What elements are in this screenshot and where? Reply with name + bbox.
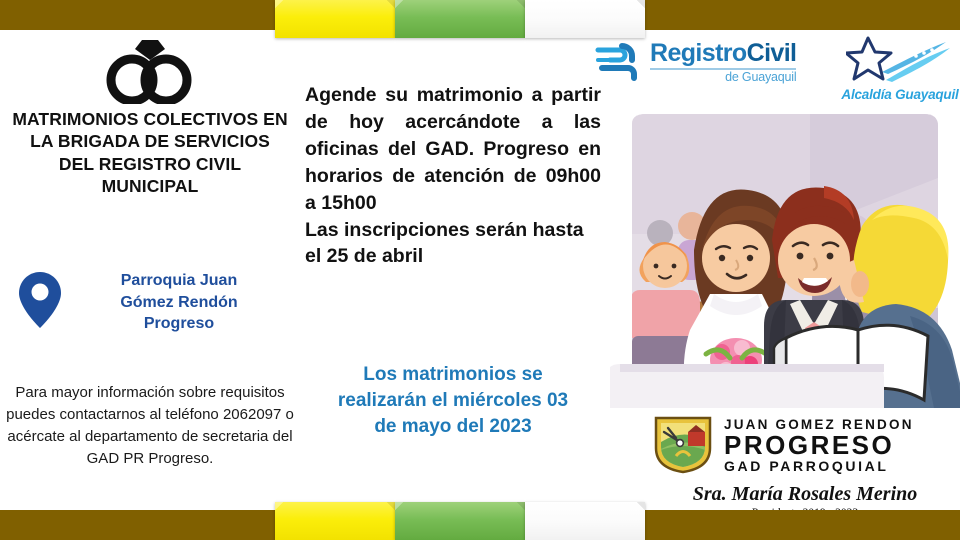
ceremony-date-line-3: de mayo del 2023: [305, 414, 601, 440]
contact-info-text: Para mayor información sobre requisitos …: [6, 382, 294, 470]
page-title: MATRIMONIOS COLECTIVOS EN LA BRIGADA DE …: [10, 108, 290, 198]
alcaldia-logo: Alcaldía Guayaquil: [840, 36, 960, 102]
parish-line-3: Progreso: [72, 313, 286, 334]
gad-parroquial-seal: JUAN GOMEZ RENDON PROGRESO GAD PARROQUIA…: [650, 412, 960, 512]
ceremony-date-text: Los matrimonios se realizarán el miércol…: [305, 362, 601, 441]
seal-line-2: PROGRESO: [724, 432, 914, 459]
registro-civil-title: RegistroCivil: [650, 41, 796, 66]
bottom-banner-chip-yellow: [275, 502, 395, 540]
top-banner-chip-white: [525, 0, 645, 38]
parish-line-1: Parroquia Juan: [72, 270, 286, 291]
registro-civil-wordmark: RegistroCivil de Guayaquil: [650, 41, 796, 84]
top-banner-chip-yellow: [275, 0, 395, 38]
parish-text: Parroquia Juan Gómez Rendón Progreso: [72, 270, 286, 334]
registro-word: Registro: [650, 39, 747, 67]
civil-word: Civil: [747, 39, 797, 67]
right-column: RegistroCivil de Guayaquil Al: [600, 0, 960, 540]
announcement-paragraph-2: Las inscripciones serán hasta el 25 de a…: [305, 217, 601, 271]
poster-canvas: MATRIMONIOS COLECTIVOS EN LA BRIGADA DE …: [0, 0, 960, 540]
announcement-body: Agende su matrimonio a partir de hoy ace…: [305, 82, 601, 270]
ceremony-date-line-1: Los matrimonios se: [305, 362, 601, 388]
seal-wordmark: JUAN GOMEZ RENDON PROGRESO GAD PARROQUIA…: [724, 418, 914, 472]
center-column: Agende su matrimonio a partir de hoy ace…: [300, 30, 605, 510]
wedding-rings-icon: [102, 38, 198, 109]
announcement-paragraph-1: Agende su matrimonio a partir de hoy ace…: [305, 82, 601, 217]
ceremony-date-line-2: realizarán el miércoles 03: [305, 388, 601, 414]
progreso-coat-of-arms-icon: [650, 412, 716, 479]
registro-civil-logo-icon: [592, 38, 644, 87]
alcaldia-name: Alcaldía Guayaquil: [840, 87, 960, 102]
wedding-ceremony-illustration: [610, 108, 960, 408]
top-banner-chip-green: [395, 0, 525, 38]
alcaldia-star-icon: [846, 71, 954, 88]
parish-line-2: Gómez Rendón: [72, 292, 286, 313]
seal-line-3: GAD PARROQUIAL: [724, 459, 914, 473]
left-column: MATRIMONIOS COLECTIVOS EN LA BRIGADA DE …: [0, 30, 300, 510]
seal-row: JUAN GOMEZ RENDON PROGRESO GAD PARROQUIA…: [650, 412, 960, 479]
map-pin-icon: [18, 270, 62, 335]
bottom-banner-chip-green: [395, 502, 525, 540]
president-name: Sra. María Rosales Merino: [650, 483, 960, 506]
registro-civil-subtitle: de Guayaquil: [650, 71, 796, 84]
registro-civil-logo: RegistroCivil de Guayaquil: [592, 38, 796, 87]
logo-row: RegistroCivil de Guayaquil Al: [600, 34, 960, 106]
bottom-banner-chip-white: [525, 502, 645, 540]
parish-block: Parroquia Juan Gómez Rendón Progreso: [18, 270, 286, 335]
